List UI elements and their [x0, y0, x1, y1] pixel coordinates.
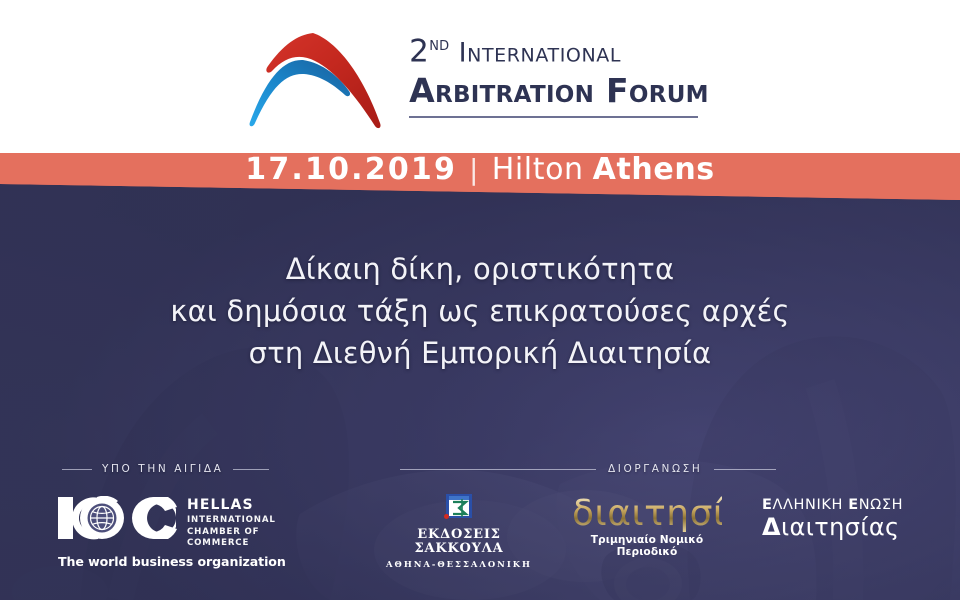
event-date: 17.10.2019	[245, 152, 457, 187]
date-venue-text: 17.10.2019 | Hilton Athens	[0, 152, 960, 186]
eed-line1-d: ΝΩΣΗ	[859, 497, 903, 513]
ordinal-suffix: nd	[429, 33, 449, 55]
event-title-line2: Arbitration Forum	[409, 72, 709, 110]
sponsor-logo-icc[interactable]: HELLAS INTERNATIONAL CHAMBER OF COMMERCE…	[58, 496, 298, 562]
ordinal-number: 2	[409, 34, 429, 70]
double-arc-logo-icon	[239, 23, 387, 131]
icc-sub-line1: INTERNATIONAL	[187, 515, 298, 527]
icc-tagline: The world business organization	[58, 554, 298, 569]
eed-line1-a: Ε	[762, 497, 773, 513]
band-separator: |	[469, 153, 480, 186]
icc-sub-line2: CHAMBER OF COMMERCE	[187, 527, 298, 550]
date-venue-band: 17.10.2019 | Hilton Athens	[0, 152, 960, 202]
aegis-rule-right	[233, 469, 269, 470]
aegis-label-row: ΥΠΟ ΤΗΝ ΑΙΓΙΔΑ	[62, 460, 269, 478]
sponsor-logo-diaitisia[interactable]: διαιτησία Τριμηνιαίο Νομικό Περιοδικό	[572, 496, 722, 558]
diaitisia-wordmark: διαιτησία	[572, 496, 722, 532]
header-inner: 2nd International Arbitration Forum	[239, 23, 709, 131]
organizers-rule-left	[400, 469, 596, 470]
organizers-rule-right	[714, 469, 776, 470]
sponsor-logo-sakkoulas[interactable]: ΕΚΔΟΣΕΙΣ ΣΑΚΚΟΥΛΑ ΑΘΗΝΑ-ΘΕΣΣΑΛΟΝΙΚΗ	[384, 494, 534, 569]
header-bar: 2nd International Arbitration Forum	[0, 0, 960, 153]
eed-line1-b: ΛΛΗΝΙΚΗ	[773, 497, 849, 513]
organizers-label-row: ΔΙΟΡΓΑΝΩΣΗ	[400, 460, 776, 478]
organizers-label: ΔΙΟΡΓΑΝΩΣΗ	[608, 463, 702, 475]
sakkoulas-name: ΕΚΔΟΣΕΙΣ ΣΑΚΚΟΥΛΑ	[384, 528, 534, 557]
title-line-2: και δημόσια τάξη ως επικρατούσες αρχές	[0, 290, 960, 332]
aegis-label: ΥΠΟ ΤΗΝ ΑΙΓΙΔΑ	[102, 463, 223, 475]
sakkoulas-cities: ΑΘΗΝΑ-ΘΕΣΣΑΛΟΝΙΚΗ	[384, 559, 534, 569]
eed-line2-b: ιαιτησίας	[781, 513, 900, 541]
event-title-line1: 2nd International	[409, 35, 709, 67]
sakkoulas-sigma-icon	[442, 494, 476, 524]
page-title: Δίκαιη δίκη, οριστικότητα και δημόσια τά…	[0, 248, 960, 374]
diaitisia-subtitle: Τριμηνιαίο Νομικό Περιοδικό	[572, 534, 722, 558]
title-underline	[409, 116, 698, 118]
eed-line1-c: Ε	[848, 497, 859, 513]
poster-root: 2nd International Arbitration Forum 17.1…	[0, 0, 960, 600]
eed-line1: ΕΛΛΗΝΙΚΗ ΕΝΩΣΗ	[762, 498, 912, 513]
icc-hellas-label: HELLAS	[187, 498, 298, 512]
icc-wordmark: HELLAS INTERNATIONAL CHAMBER OF COMMERCE	[187, 496, 298, 550]
event-title-block: 2nd International Arbitration Forum	[409, 35, 709, 117]
sponsors-section: ΥΠΟ ΤΗΝ ΑΙΓΙΔΑ ΔΙΟΡΓΑΝΩΣΗ	[0, 460, 960, 580]
title-line-1: Δίκαιη δίκη, οριστικότητα	[0, 248, 960, 290]
eed-line2: Διαιτησίας	[762, 515, 912, 540]
aegis-rule-left	[62, 469, 92, 470]
icc-top-row: HELLAS INTERNATIONAL CHAMBER OF COMMERCE	[58, 496, 298, 550]
title-line-3: στη Διεθνή Εμπορική Διαιτησία	[0, 332, 960, 374]
title-international-text: International	[459, 38, 621, 69]
eed-line2-a: Δ	[762, 513, 781, 541]
sponsor-logo-eed[interactable]: ΕΛΛΗΝΙΚΗ ΕΝΩΣΗ Διαιτησίας	[762, 498, 912, 540]
venue-name-light: Hilton	[492, 152, 584, 187]
venue-name-bold: Athens	[593, 152, 715, 187]
icc-globe-icon	[58, 496, 178, 540]
